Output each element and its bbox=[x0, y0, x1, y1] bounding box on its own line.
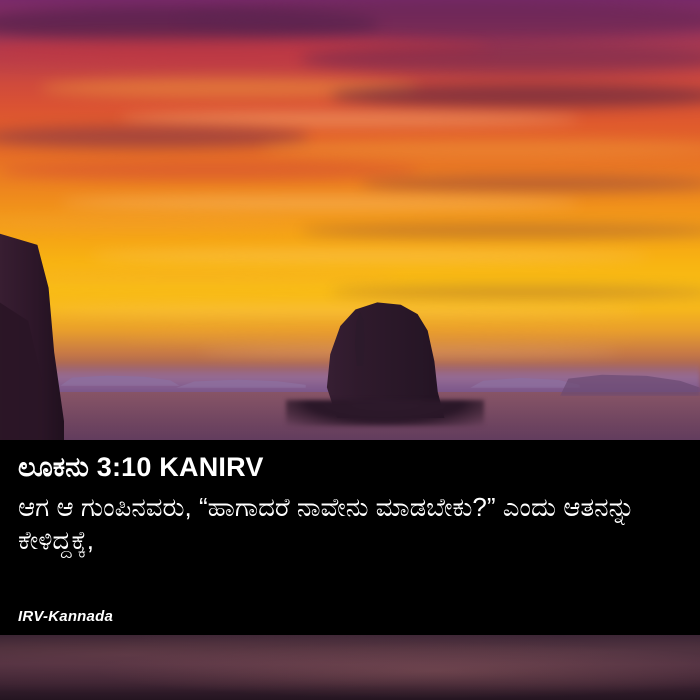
verse-body: ಆಗ ಆ ಗುಂಪಿನವರು, “ಹಾಗಾದರೆ ನಾವೇನು ಮಾಡಬೇಕು?… bbox=[18, 491, 682, 558]
caption-panel: ಲೂಕನು 3:10 KANIRV ಆಗ ಆ ಗುಂಪಿನವರು, “ಹಾಗಾದ… bbox=[0, 440, 700, 635]
cloud-streak bbox=[330, 286, 700, 298]
sand-texture bbox=[0, 635, 700, 700]
bible-version-label: IRV-Kannada bbox=[18, 608, 113, 625]
cloud-streak bbox=[40, 306, 640, 316]
cloud-streak bbox=[0, 162, 420, 180]
verse-reference: ಲೂಕನು 3:10 KANIRV bbox=[18, 452, 682, 483]
cloud-streak bbox=[0, 272, 400, 284]
verse-image: ಲೂಕನು 3:10 KANIRV ಆಗ ಆ ಗುಂಪಿನವರು, “ಹಾಗಾದ… bbox=[0, 0, 700, 700]
cloud-streak bbox=[90, 250, 650, 262]
cloud-streak bbox=[120, 112, 580, 126]
butte-base-shadow bbox=[286, 400, 484, 426]
cloud-streak bbox=[60, 196, 580, 210]
foreground-sand bbox=[0, 635, 700, 700]
cloud-streak bbox=[360, 176, 700, 192]
